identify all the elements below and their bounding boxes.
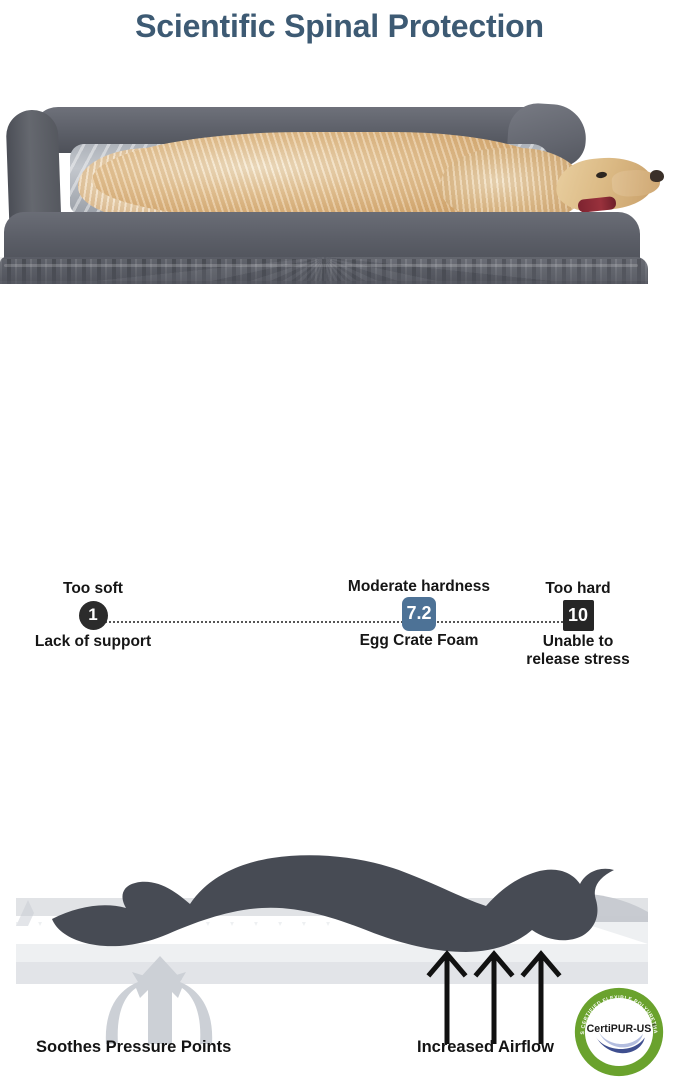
dog-nose	[650, 170, 664, 182]
hardness-scale: Too soft 1 Lack of support Moderate hard…	[0, 284, 679, 394]
bed-eggcrate-base	[0, 257, 648, 284]
seal-brand-text: CertiPUR-US	[587, 1023, 652, 1035]
label-soothes-pressure-points: Soothes Pressure Points	[36, 1038, 231, 1057]
product-photo-dog-bed	[0, 52, 679, 284]
dog-collar	[577, 196, 616, 213]
label-increased-airflow: Increased Airflow	[417, 1038, 554, 1057]
increased-airflow-arrows	[430, 954, 558, 1044]
page-title-bar: Scientific Spinal Protection	[0, 0, 679, 52]
certipur-us-seal: CertiPUR-US ® CONTAINS CERTIFIED FLEXIBL…	[573, 986, 665, 1078]
page-title: Scientific Spinal Protection	[135, 8, 544, 45]
spinal-support-diagram: Soothes Pressure Points Increased Airflo…	[0, 394, 679, 684]
bed-seam-line	[4, 264, 638, 267]
